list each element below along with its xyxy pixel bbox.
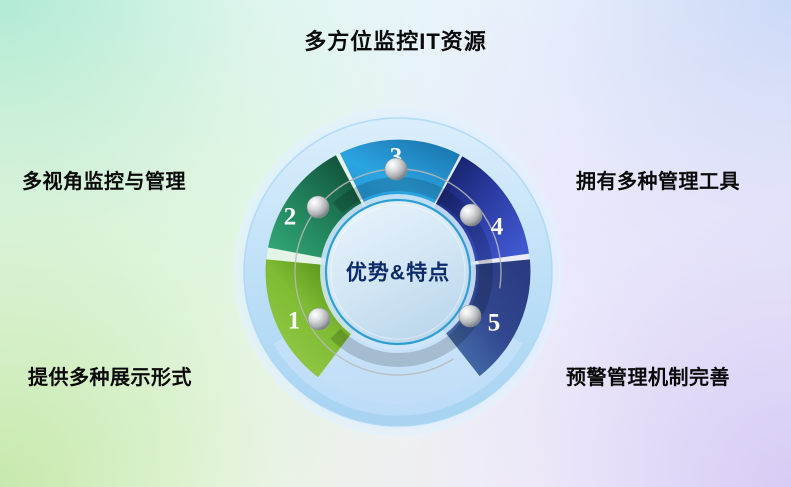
- marker-5[interactable]: [459, 305, 481, 327]
- marker-1[interactable]: [308, 308, 330, 330]
- marker-2[interactable]: [307, 196, 329, 218]
- segment-number-1: 1: [288, 308, 301, 335]
- segment-number-5: 5: [488, 310, 501, 337]
- segment-number-4: 4: [491, 214, 504, 241]
- center-label: 优势&特点: [346, 261, 450, 285]
- marker-3[interactable]: [385, 158, 407, 180]
- marker-4[interactable]: [460, 204, 482, 226]
- infographic-canvas: 多方位监控IT资源 多视角监控与管理 提供多种展示形式 拥有多种管理工具 预警管…: [0, 0, 791, 487]
- segment-number-2: 2: [284, 204, 297, 231]
